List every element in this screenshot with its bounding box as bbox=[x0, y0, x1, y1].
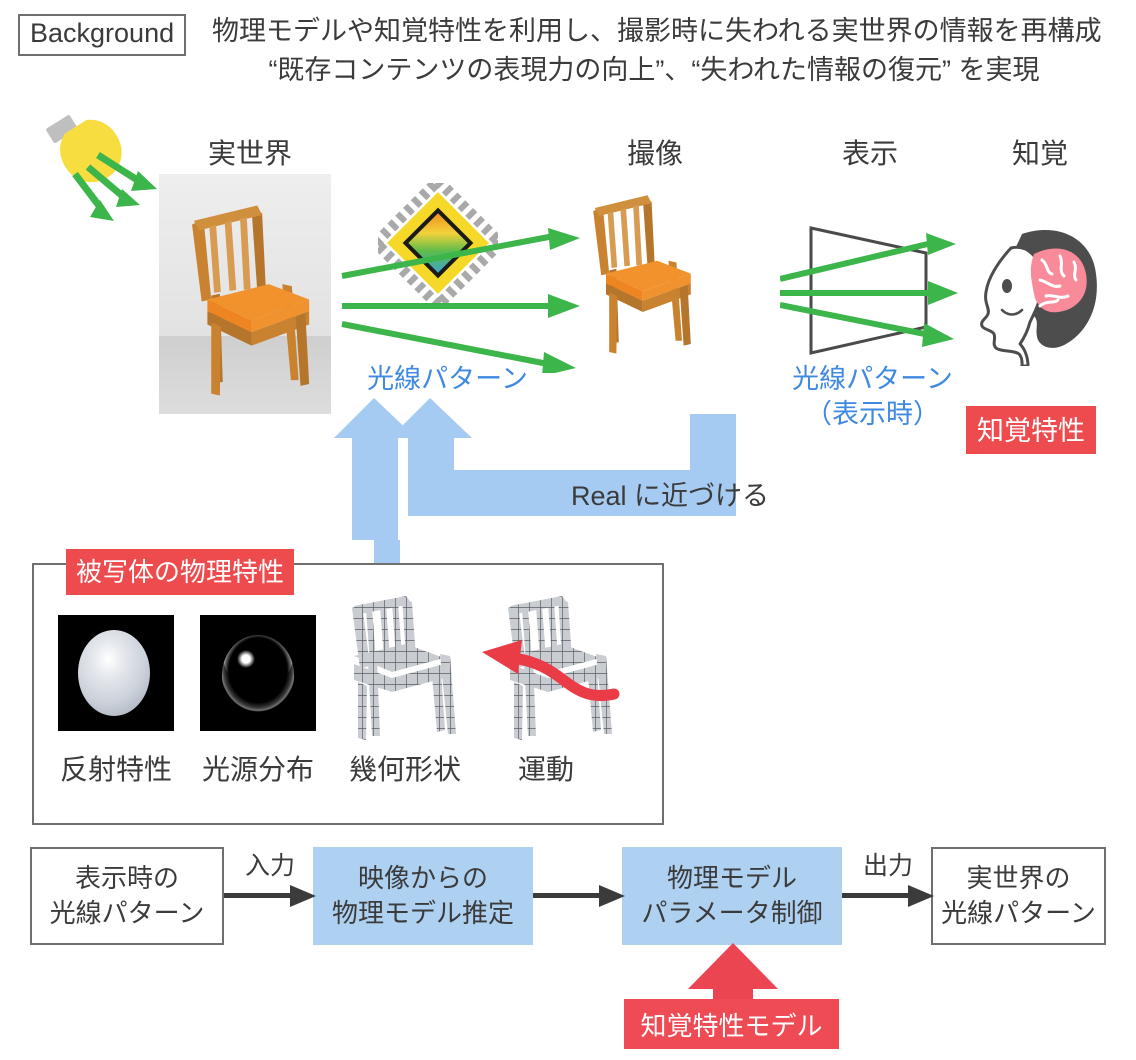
flow-box-3-line1: 物理モデル bbox=[667, 861, 797, 896]
captured-chair-image bbox=[588, 182, 728, 382]
light-bulb-icon bbox=[26, 105, 166, 235]
perception-model-arrow-icon bbox=[682, 943, 784, 1005]
motion-chair-icon bbox=[470, 596, 620, 741]
flow-arrow-2-icon bbox=[533, 881, 625, 911]
perception-model-box: 知覚特性モデル bbox=[624, 999, 839, 1049]
background-tag: Background bbox=[18, 14, 186, 56]
flow-box-model-estimation: 映像からの 物理モデル推定 bbox=[313, 847, 533, 945]
flow-box-4-line1: 実世界の bbox=[966, 861, 1070, 896]
stage-label-display: 表示 bbox=[785, 132, 955, 172]
flow-box-3-line2: パラメータ制御 bbox=[641, 896, 822, 931]
human-head-brain-icon bbox=[962, 218, 1117, 366]
flow-arrow-label-output: 出力 bbox=[840, 846, 936, 882]
ray-pattern-capture-label: 光線パターン bbox=[330, 362, 565, 397]
capture-ray-arrows bbox=[340, 228, 600, 373]
wireframe-chair-icon bbox=[340, 596, 470, 741]
physical-properties-tag: 被写体の物理特性 bbox=[66, 549, 294, 595]
headline-line-2: “既存コンテンツの表現力の向上”、“失われた情報の復元” を実現 bbox=[212, 51, 1132, 90]
flow-box-2-line2: 物理モデル推定 bbox=[332, 896, 514, 931]
prop-caption-reflectance: 反射特性 bbox=[40, 748, 192, 788]
header: Background 物理モデルや知覚特性を利用し、撮影時に失われる実世界の情報… bbox=[0, 0, 1136, 110]
flow-arrow-label-input: 入力 bbox=[222, 846, 318, 882]
flow-box-real-world-ray-pattern: 実世界の 光線パターン bbox=[931, 847, 1106, 945]
flow-box-display-ray-pattern: 表示時の 光線パターン bbox=[30, 847, 224, 945]
stage-label-capture: 撮像 bbox=[560, 132, 750, 172]
sphere-shading-icon bbox=[58, 615, 174, 731]
flow-box-4-line2: 光線パターン bbox=[941, 896, 1096, 931]
ray-pattern-display-line1: 光線パターン bbox=[760, 362, 985, 397]
real-world-chair-photo bbox=[159, 174, 331, 414]
flow-box-1-line1: 表示時の bbox=[75, 861, 179, 896]
prop-caption-motion: 運動 bbox=[478, 748, 614, 788]
light-distribution-icon bbox=[200, 615, 316, 731]
flow-box-1-line2: 光線パターン bbox=[50, 896, 205, 931]
prop-caption-light-distribution: 光源分布 bbox=[182, 748, 334, 788]
headline-block: 物理モデルや知覚特性を利用し、撮影時に失われる実世界の情報を再構成 “既存コンテ… bbox=[212, 12, 1132, 90]
stage-label-real-world: 実世界 bbox=[155, 132, 345, 172]
prop-caption-geometry: 幾何形状 bbox=[332, 748, 478, 788]
headline-line-1: 物理モデルや知覚特性を利用し、撮影時に失われる実世界の情報を再構成 bbox=[212, 12, 1132, 51]
flow-arrow-3-icon bbox=[842, 881, 934, 911]
perception-characteristics-badge: 知覚特性 bbox=[966, 406, 1096, 454]
feedback-label: Real に近づける bbox=[520, 474, 820, 513]
display-device-icon bbox=[780, 215, 965, 365]
flow-box-parameter-control: 物理モデル パラメータ制御 bbox=[622, 847, 842, 945]
flow-box-2-line1: 映像からの bbox=[358, 861, 488, 896]
flow-arrow-1-icon bbox=[224, 881, 316, 911]
stage-label-perception: 知覚 bbox=[955, 132, 1125, 172]
